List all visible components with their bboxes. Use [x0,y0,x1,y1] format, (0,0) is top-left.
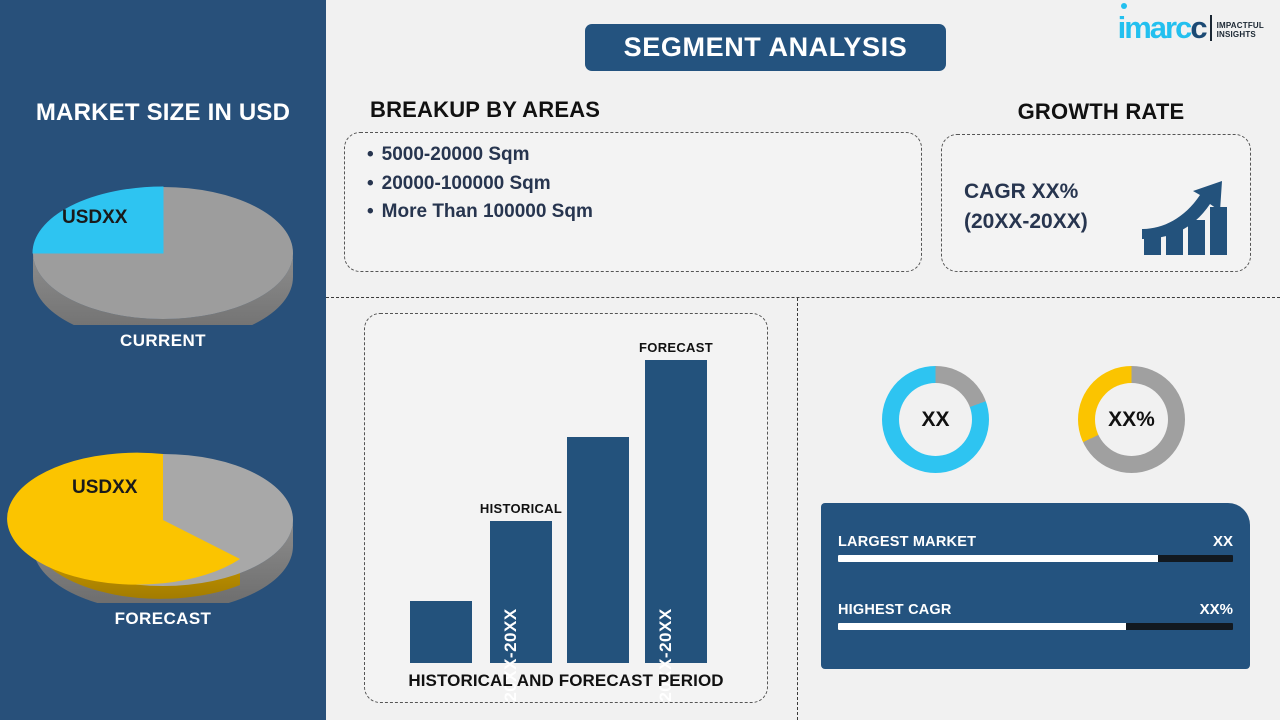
forecast-pie-value: USDXX [72,477,137,499]
donut-left-value: XX [921,408,949,432]
table-row [410,601,472,663]
forecast-pie-svg [0,428,326,603]
current-pie-block: USDXX CURRENT [0,150,326,351]
progress-fill [838,555,1158,562]
market-stats-panel: LARGEST MARKET XX HIGHEST CAGR XX% [821,503,1250,669]
donut-chart-value: XX [882,366,989,473]
table-row: HISTORICAL 20XX-20XX [490,521,552,663]
infographic-root: MARKET SIZE IN USD [0,0,1280,720]
current-pie-value: USDXX [62,207,127,229]
forecast-pie-chart: USDXX [0,428,326,603]
growth-rate-heading: GROWTH RATE [940,99,1262,125]
historical-label: HISTORICAL [480,501,562,516]
list-item: More Than 100000 Sqm [367,198,593,227]
donut-right-value: XX% [1108,408,1155,432]
growth-arrow-bars-icon [1140,173,1236,257]
stat-label: LARGEST MARKET [838,534,976,550]
donut-left-hole: XX [899,383,972,456]
stat-row: HIGHEST CAGR XX% [838,596,1233,618]
growth-rate-box: CAGR XX% (20XX-20XX) [941,134,1251,272]
list-item: 20000-100000 Sqm [367,170,593,199]
market-size-title: MARKET SIZE IN USD [0,99,326,127]
period-bar-chart: HISTORICAL 20XX-20XX FORECAST 20XX-20XX … [364,313,768,703]
stat-label: HIGHEST CAGR [838,602,952,618]
progress-track [838,555,1233,562]
stat-value: XX [1213,533,1233,550]
breakup-heading: BREAKUP BY AREAS [370,97,600,123]
cagr-text: CAGR XX% (20XX-20XX) [964,177,1088,237]
stat-largest-market: LARGEST MARKET XX [838,528,1233,562]
forecast-pie-caption: FORECAST [0,609,326,629]
logo-tagline: IMPACTFUL INSIGHTS [1217,21,1264,43]
market-size-panel: MARKET SIZE IN USD [0,0,326,720]
horizontal-divider [326,297,1280,298]
page-title: SEGMENT ANALYSIS [585,24,946,71]
donut-chart-percent: XX% [1078,366,1185,473]
current-pie-caption: CURRENT [0,331,326,351]
forecast-pie-block: USDXX FORECAST [0,428,326,629]
period-chart-caption: HISTORICAL AND FORECAST PERIOD [364,671,768,691]
current-pie-chart: USDXX [0,150,326,325]
progress-track [838,623,1233,630]
cagr-line2: (20XX-20XX) [964,207,1088,237]
donut-right-hole: XX% [1095,383,1168,456]
logo-dot-icon [1121,3,1127,9]
logo-tagline-line1: IMPACTFUL [1217,21,1264,31]
logo-wordmark-text: imarc [1118,10,1191,45]
breakup-list: 5000-20000 Sqm 20000-100000 Sqm More Tha… [367,141,593,227]
logo-wordmark: imarcc [1118,12,1206,43]
forecast-label: FORECAST [639,340,713,355]
stat-value: XX% [1200,601,1233,618]
page-title-text: SEGMENT ANALYSIS [624,32,908,63]
stat-highest-cagr: HIGHEST CAGR XX% [838,596,1233,630]
stat-row: LARGEST MARKET XX [838,528,1233,550]
logo-divider [1210,15,1212,41]
breakup-box: 5000-20000 Sqm 20000-100000 Sqm More Tha… [344,132,922,272]
table-row: FORECAST 20XX-20XX [645,360,707,663]
table-row [567,437,629,663]
progress-fill [838,623,1126,630]
logo-tagline-line2: INSIGHTS [1217,30,1264,40]
list-item: 5000-20000 Sqm [367,141,593,170]
vertical-divider [797,298,798,720]
logo-wordmark-tail: c [1190,10,1205,45]
imarc-logo: imarcc IMPACTFUL INSIGHTS [1118,12,1264,43]
cagr-line1: CAGR XX% [964,177,1088,207]
current-pie-svg [0,150,326,325]
